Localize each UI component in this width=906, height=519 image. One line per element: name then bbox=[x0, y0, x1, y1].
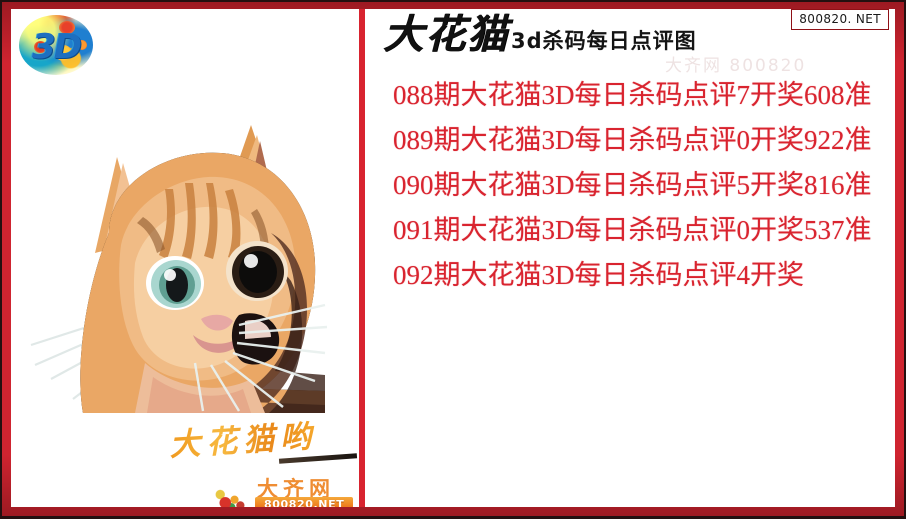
cat-caption-text: 大花猫哟 bbox=[168, 411, 318, 465]
watermark-emblem-icon bbox=[211, 483, 253, 507]
forecast-line: 090期大花猫3D每日杀码点评5开奖816准 bbox=[393, 163, 885, 208]
title-main-text: 大花猫 bbox=[383, 15, 509, 55]
title-sub-text: 3d杀码每日点评图 bbox=[509, 31, 697, 55]
site-url-badge: 800820. NET bbox=[791, 9, 889, 30]
cat-svg bbox=[25, 113, 351, 413]
page-title: 大花猫 3d杀码每日点评图 bbox=[383, 15, 697, 55]
logo-3d-text: 3D bbox=[19, 15, 93, 75]
right-panel: 800820. NET 大花猫 3d杀码每日点评图 大齐网 800820 088… bbox=[365, 9, 895, 507]
forecast-line: 089期大花猫3D每日杀码点评0开奖922准 bbox=[393, 118, 885, 163]
forecast-line-list: 088期大花猫3D每日杀码点评7开奖608准 089期大花猫3D每日杀码点评0开… bbox=[393, 73, 885, 298]
watermark-site-url: 800820.NET bbox=[255, 497, 353, 507]
poster-inner: 3D bbox=[11, 9, 895, 507]
left-panel: 3D bbox=[11, 9, 359, 507]
poster-root: 3D bbox=[0, 0, 906, 519]
forecast-line: 091期大花猫3D每日杀码点评0开奖537准 bbox=[393, 208, 885, 253]
cat-photo bbox=[25, 113, 351, 413]
site-watermark: 大齐网 800820.NET bbox=[211, 475, 356, 507]
3d-lottery-logo-icon: 3D bbox=[19, 15, 93, 75]
forecast-line: 088期大花猫3D每日杀码点评7开奖608准 bbox=[393, 73, 885, 118]
cat-illustration bbox=[25, 113, 351, 413]
forecast-line: 092期大花猫3D每日杀码点评4开奖 bbox=[393, 253, 885, 298]
